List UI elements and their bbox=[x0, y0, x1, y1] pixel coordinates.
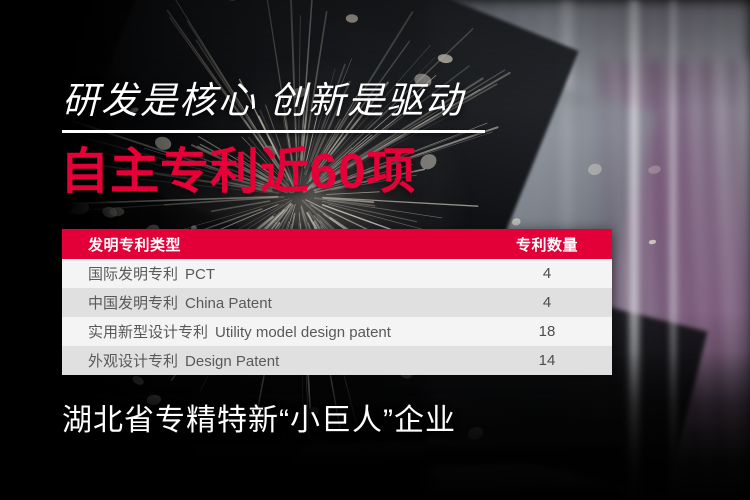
table-row: 实用新型设计专利Utility model design patent 18 bbox=[62, 317, 612, 346]
patent-achievement-banner: 研发是核心 创新是驱动 自主专利近60项 发明专利类型 专利数量 国际发明专利P… bbox=[0, 0, 750, 500]
cell-patent-type: 中国发明专利China Patent bbox=[62, 288, 482, 317]
patent-type-en: PCT bbox=[185, 266, 215, 283]
patent-type-en: China Patent bbox=[185, 295, 272, 312]
patent-type-cn: 中国发明专利 bbox=[88, 295, 178, 312]
table-header-row: 发明专利类型 专利数量 bbox=[62, 229, 612, 259]
cell-patent-count: 4 bbox=[482, 288, 612, 317]
table-row: 国际发明专利PCT 4 bbox=[62, 259, 612, 288]
column-header-patent-count: 专利数量 bbox=[482, 229, 612, 259]
cell-patent-type: 国际发明专利PCT bbox=[62, 259, 482, 288]
patent-type-cn: 外观设计专利 bbox=[88, 353, 178, 370]
cell-patent-type: 外观设计专利Design Patent bbox=[62, 346, 482, 375]
banner-content: 研发是核心 创新是驱动 自主专利近60项 发明专利类型 专利数量 国际发明专利P… bbox=[0, 0, 750, 500]
headline-divider bbox=[62, 130, 485, 133]
footer-tagline: 湖北省专精特新“小巨人”企业 bbox=[62, 402, 456, 440]
patent-type-cn: 国际发明专利 bbox=[88, 266, 178, 283]
cell-patent-count: 4 bbox=[482, 259, 612, 288]
headline-secondary: 自主专利近60项 bbox=[60, 143, 417, 201]
cell-patent-count: 14 bbox=[482, 346, 612, 375]
cell-patent-count: 18 bbox=[482, 317, 612, 346]
patent-type-cn: 实用新型设计专利 bbox=[88, 324, 208, 341]
cell-patent-type: 实用新型设计专利Utility model design patent bbox=[62, 317, 482, 346]
table-row: 外观设计专利Design Patent 14 bbox=[62, 346, 612, 375]
patent-table-body: 国际发明专利PCT 4 中国发明专利China Patent 4 实用新型设计专… bbox=[62, 259, 612, 375]
column-header-patent-type: 发明专利类型 bbox=[62, 229, 482, 259]
patent-type-en: Utility model design patent bbox=[215, 324, 391, 341]
patent-table-header: 发明专利类型 专利数量 bbox=[62, 229, 612, 259]
headline-primary: 研发是核心 创新是驱动 bbox=[62, 79, 464, 123]
patent-table: 发明专利类型 专利数量 国际发明专利PCT 4 中国发明专利China Pate… bbox=[62, 229, 612, 375]
table-row: 中国发明专利China Patent 4 bbox=[62, 288, 612, 317]
patent-type-en: Design Patent bbox=[185, 353, 279, 370]
